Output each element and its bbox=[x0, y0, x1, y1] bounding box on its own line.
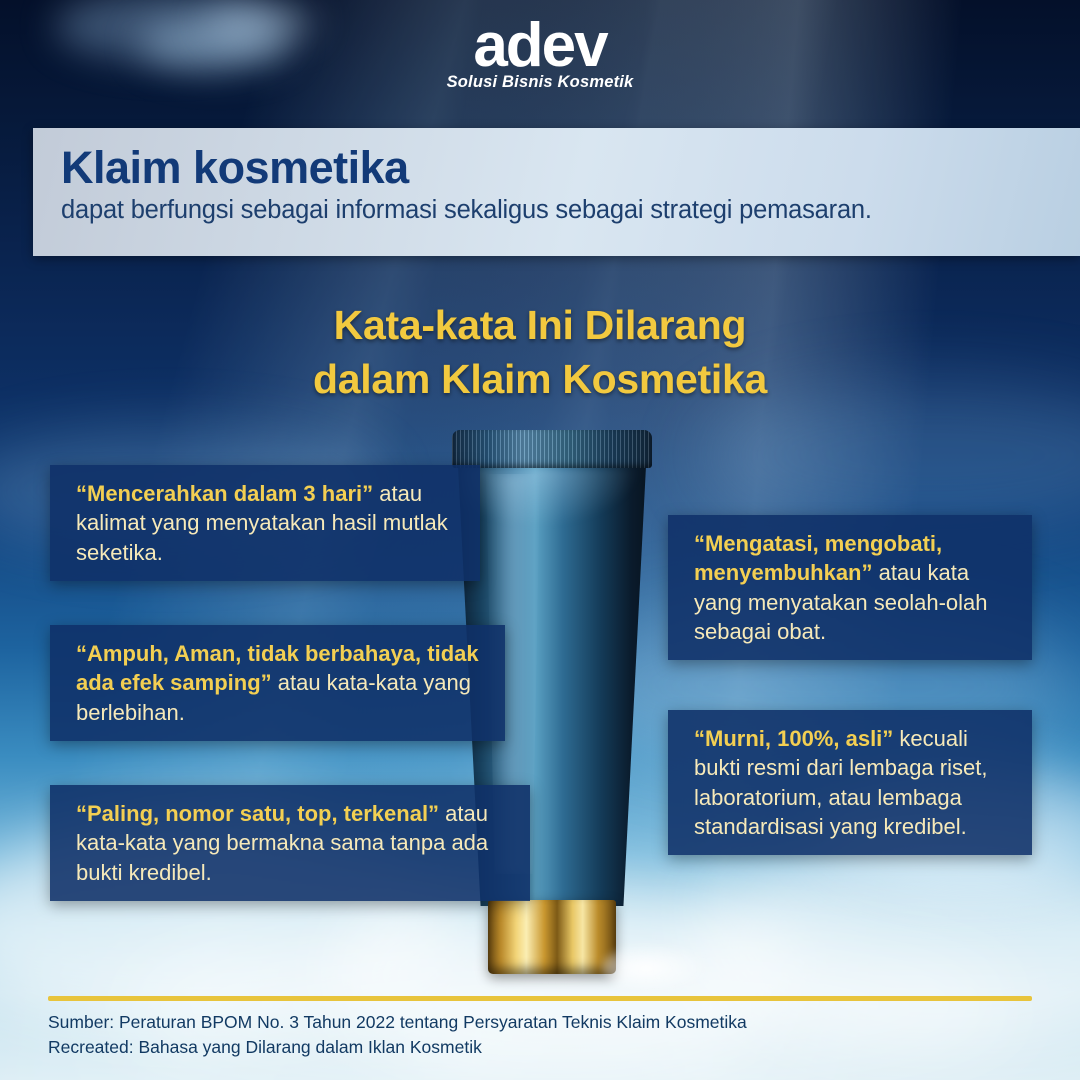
tube-foam bbox=[602, 942, 712, 994]
footer-source: Sumber: Peraturan BPOM No. 3 Tahun 2022 … bbox=[48, 1010, 1048, 1060]
headline-banner: Klaim kosmetika dapat berfungsi sebagai … bbox=[33, 128, 1080, 256]
footer-divider bbox=[48, 996, 1032, 1001]
section-heading: Kata-kata Ini Dilarang dalam Klaim Kosme… bbox=[0, 298, 1080, 406]
claim-card: “Mencerahkan dalam 3 hari” atau kalimat … bbox=[50, 465, 480, 581]
banner-title: Klaim kosmetika bbox=[61, 142, 1080, 194]
brand-logo: adev Solusi Bisnis Kosmetik bbox=[0, 14, 1080, 92]
infographic-poster: adev Solusi Bisnis Kosmetik Klaim kosmet… bbox=[0, 0, 1080, 1080]
section-heading-line-1: Kata-kata Ini Dilarang bbox=[0, 298, 1080, 352]
footer-source-line-2: Recreated: Bahasa yang Dilarang dalam Ik… bbox=[48, 1035, 1048, 1060]
tube-crimp-seal bbox=[452, 430, 652, 468]
footer-source-line-1: Sumber: Peraturan BPOM No. 3 Tahun 2022 … bbox=[48, 1010, 1048, 1035]
brand-name: adev bbox=[473, 14, 606, 77]
claim-card: “Ampuh, Aman, tidak berbahaya, tidak ada… bbox=[50, 625, 505, 741]
claim-quote: “Murni, 100%, asli” bbox=[694, 726, 893, 751]
claim-quote: “Paling, nomor satu, top, terkenal” bbox=[76, 801, 439, 826]
claim-card: “Paling, nomor satu, top, terkenal” atau… bbox=[50, 785, 530, 901]
claim-card: “Mengatasi, mengobati, menyembuhkan” ata… bbox=[668, 515, 1032, 660]
section-heading-line-2: dalam Klaim Kosmetika bbox=[0, 352, 1080, 406]
tube-gold-cap bbox=[488, 900, 616, 974]
banner-subtitle: dapat berfungsi sebagai informasi sekali… bbox=[61, 196, 1080, 225]
claim-card: “Murni, 100%, asli” kecuali bukti resmi … bbox=[668, 710, 1032, 855]
claim-quote: “Mencerahkan dalam 3 hari” bbox=[76, 481, 373, 506]
